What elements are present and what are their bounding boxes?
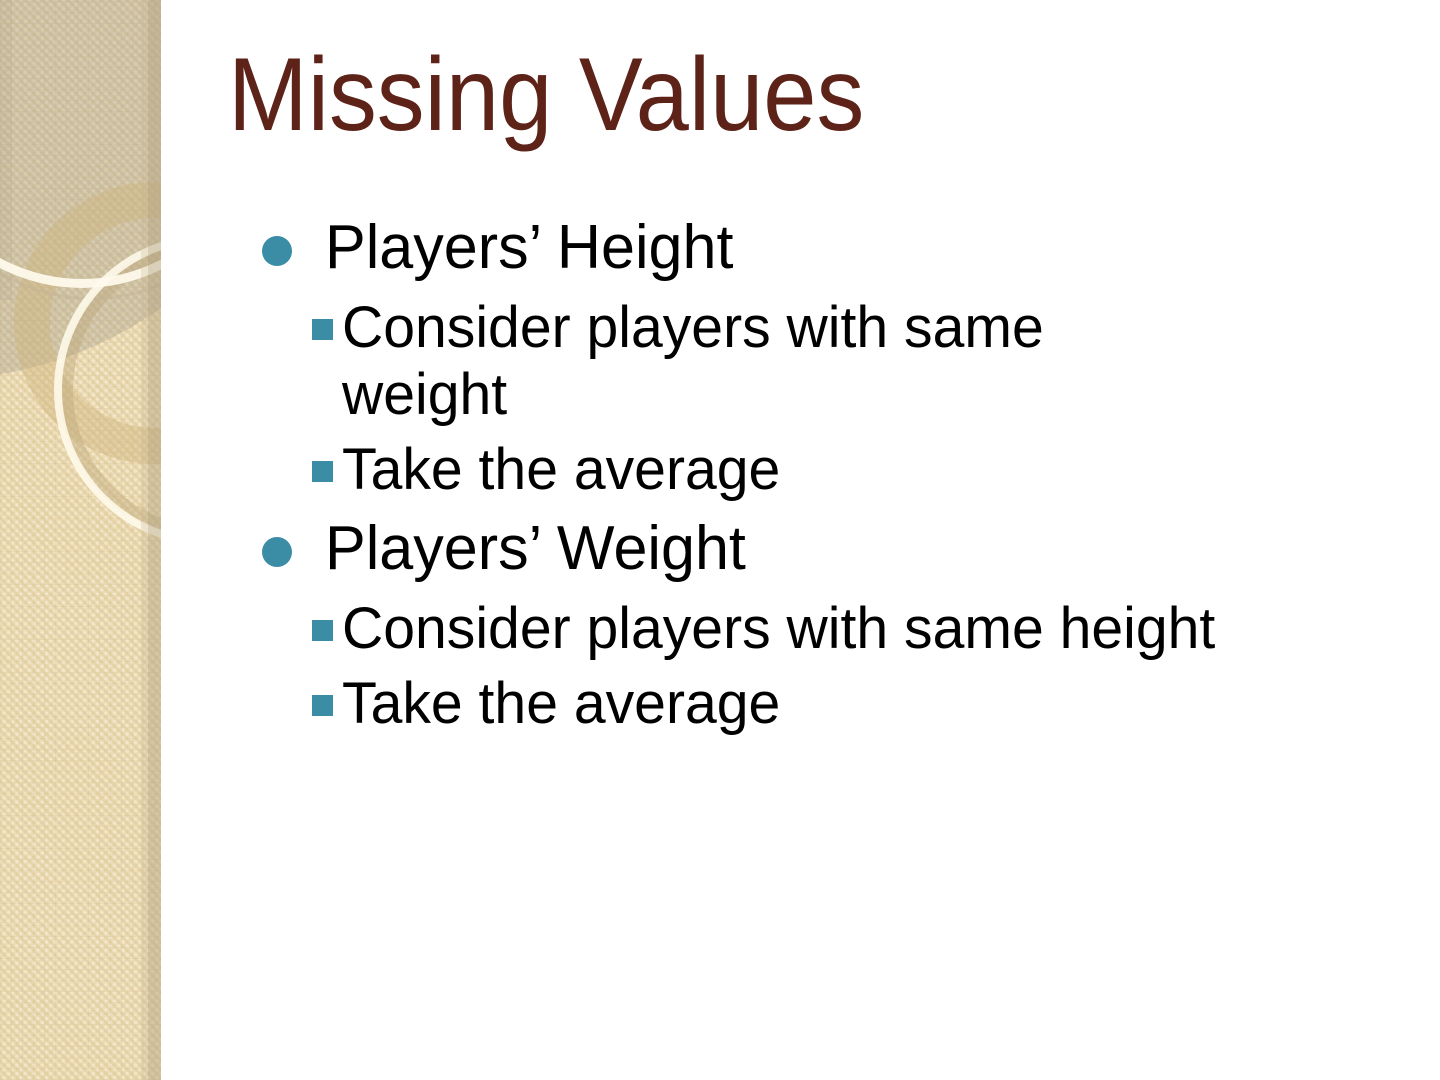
presentation-slide: Missing Values Players’ Height Consider … [0,0,1440,1080]
bullet-level1-item: Players’ Weight [250,513,1390,586]
bullet-square-icon [312,695,333,716]
bullet-level1-item: Players’ Height [250,212,1390,285]
bullet-text: Take the average [342,671,1217,738]
bullet-square-icon [312,620,333,641]
bullet-level2-item: Consider players with same height [250,596,1390,663]
slide-decorative-sidebar [0,0,161,1080]
slide-title: Missing Values [228,34,1314,157]
bullet-text: Consider players with same height [342,596,1217,663]
sidebar-edge-band [148,0,161,1080]
bullet-level2-item: Take the average [250,671,1390,738]
bullet-square-icon [312,319,333,340]
bullet-text: Players’ Height [325,212,1374,285]
bullet-text: Players’ Weight [325,513,1374,586]
bullet-text: Consider players with same weight [342,295,1217,429]
slide-body-content: Players’ Height Consider players with sa… [250,212,1390,740]
bullet-circle-icon [262,537,292,567]
sidebar-edge-band-soft [141,0,148,1080]
bullet-circle-icon [262,236,292,266]
bullet-square-icon [312,461,333,482]
bullet-text: Take the average [342,437,1217,504]
bullet-level2-item: Take the average [250,437,1390,504]
sidebar-cream-arc-upper-icon [0,0,161,288]
bullet-level2-item: Consider players with same weight [250,295,1390,429]
